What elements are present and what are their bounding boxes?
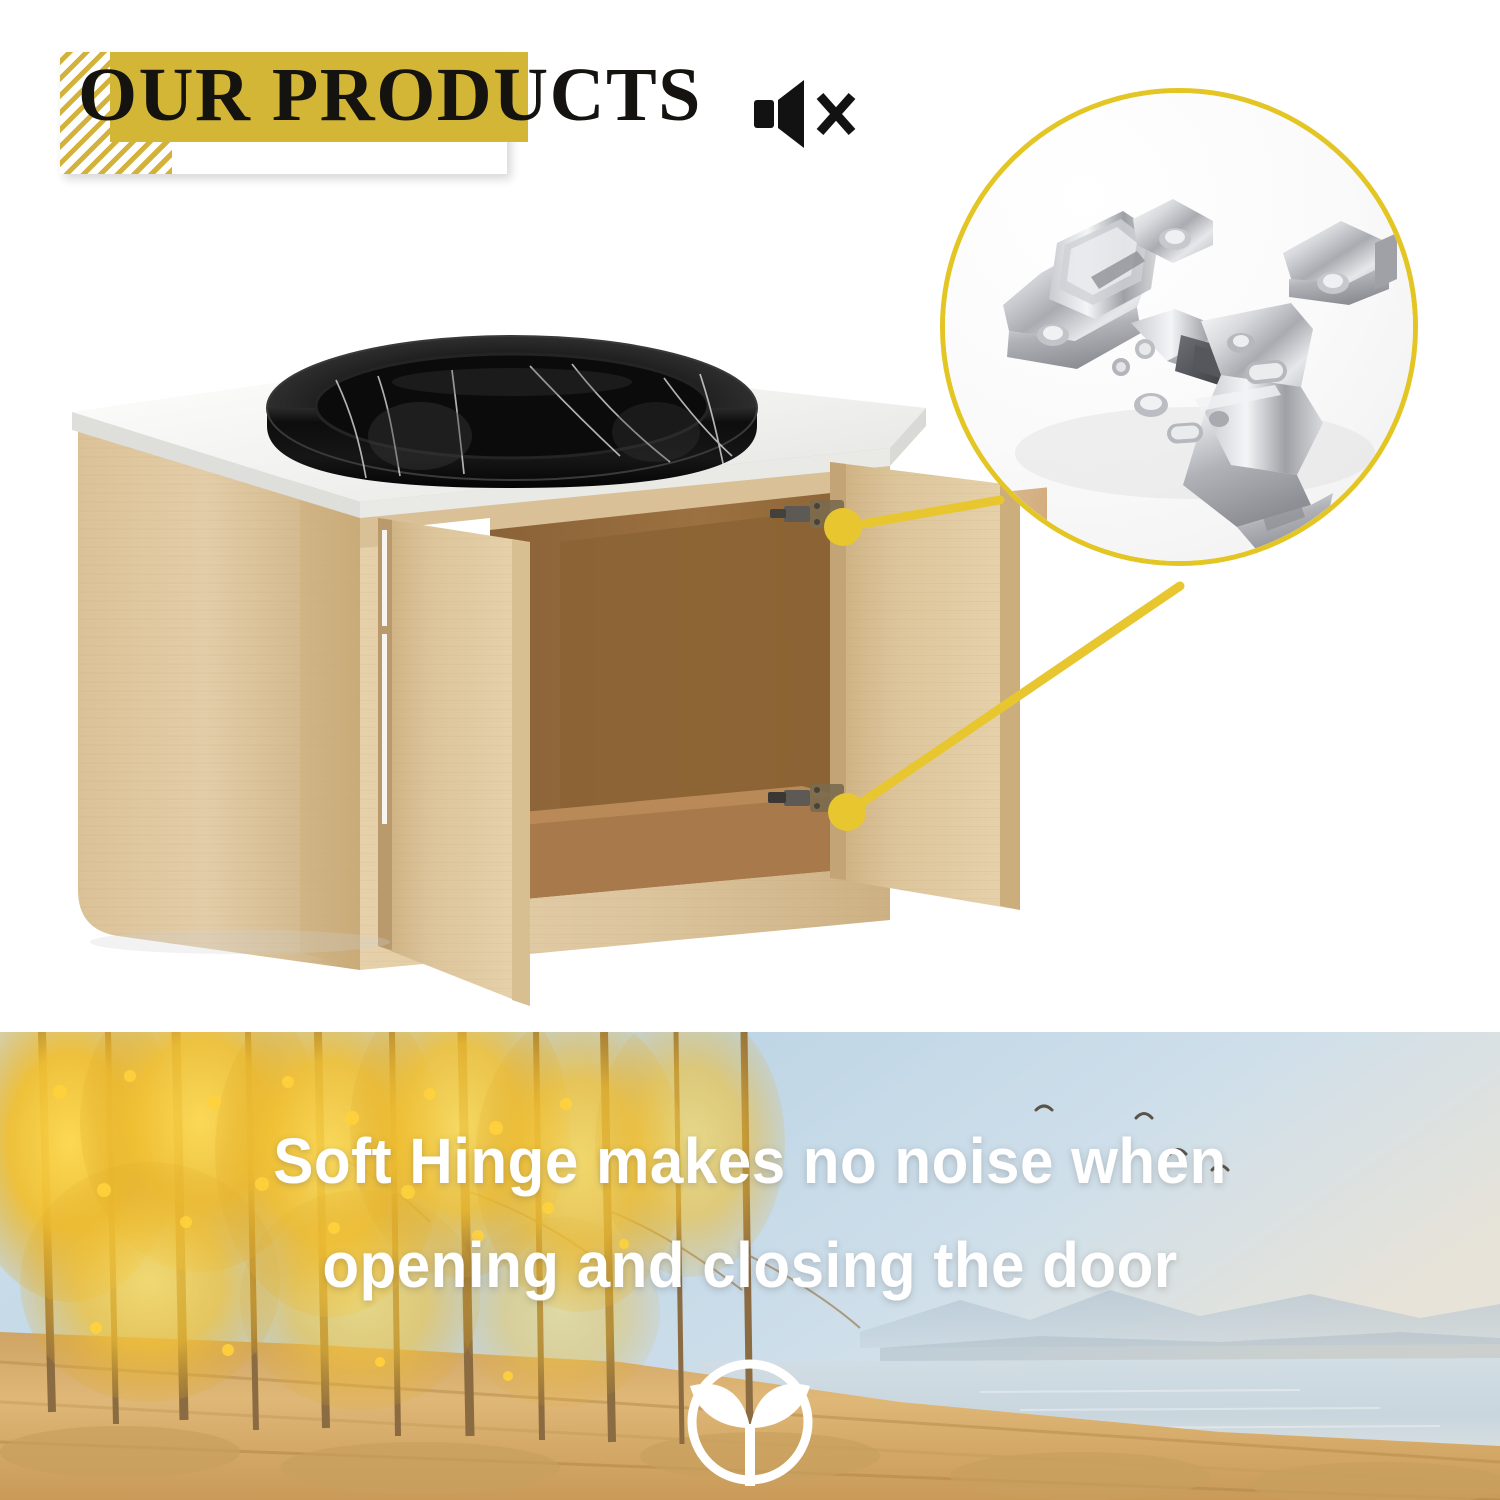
caption-line-1: Soft Hinge makes no noise when [45,1110,1455,1214]
caption-line-2: opening and closing the door [45,1214,1455,1318]
hinge-mounting-plate [1283,221,1397,305]
banner-caption: Soft Hinge makes no noise when opening a… [45,1110,1455,1317]
vessel-sink [267,336,757,488]
speaker-mute-icon [752,78,856,150]
leaf-left [690,1384,750,1428]
product-infographic: OUR PRODUCTS [0,0,1500,1500]
cabinet-door-left [378,518,530,1006]
eco-sprout-logo [650,1342,850,1492]
vanity-product-image [60,230,1060,1020]
sprout-stem [745,1424,755,1486]
leaf-right [750,1384,810,1428]
page-title: OUR PRODUCTS [78,46,702,144]
soft-close-hinge-photo [945,93,1418,566]
hinge-magnifier-callout [940,88,1418,566]
